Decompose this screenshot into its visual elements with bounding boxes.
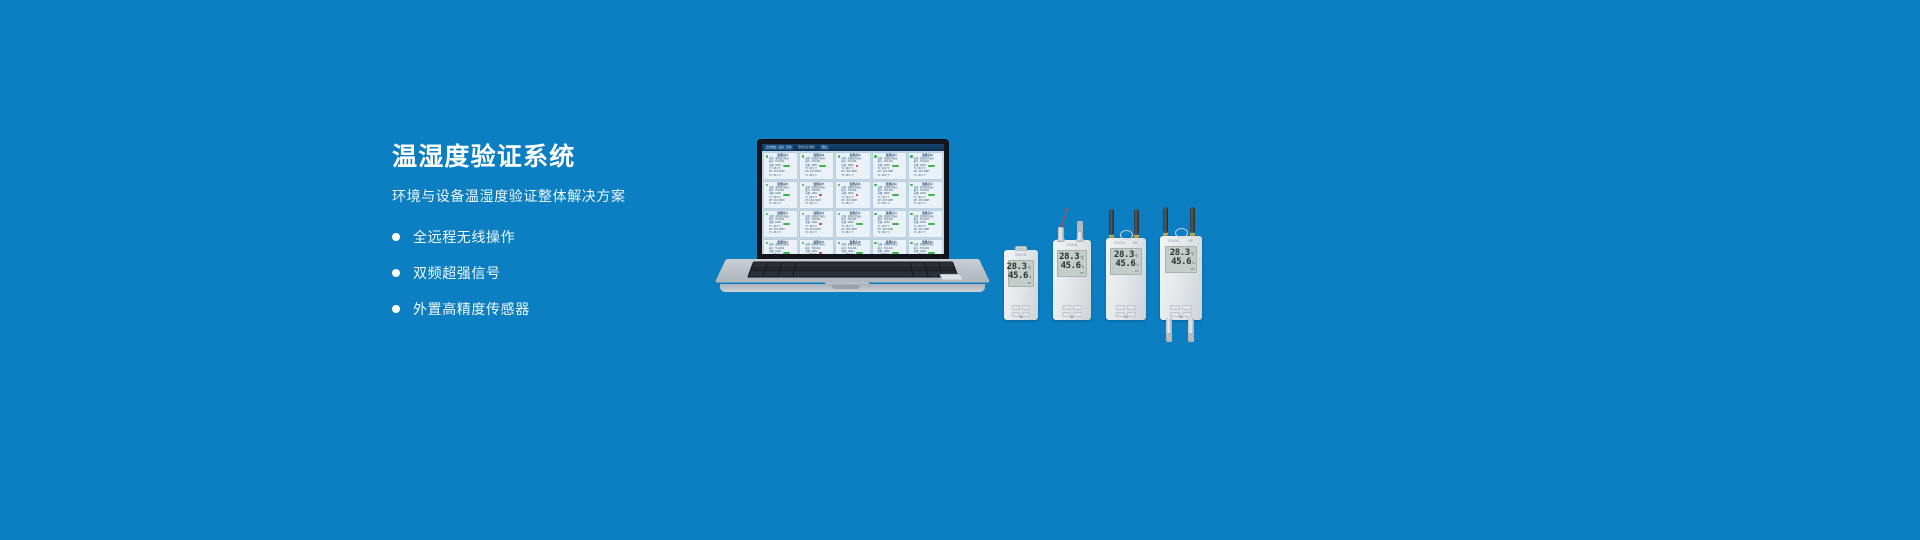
status-badge-ok [783,223,790,225]
sensor-field-key: T2: [805,203,808,206]
sensor-card[interactable]: 监测点02设备:温湿度记录仪编号:TLD-001电量:100%T1:28.3 ℃… [799,152,834,180]
sensor-card-row: T2:28.1 ℃ [805,232,832,235]
sensor-card-row: T2:28.1 ℃ [841,232,868,235]
lcd-temperature-unit: ℃ [1080,257,1084,261]
lcd-humidity-line: 45.6 % [1113,260,1138,269]
sensor-card[interactable]: 监测点03设备:温湿度记录仪编号:TLD-001电量:100%T1:28.3 ℃… [835,152,870,180]
lcd-humidity-value: 45.6 [1115,260,1135,269]
sensor-card[interactable]: 监测点08设备:温湿度记录仪编号:TLD-001电量:100%T1:28.3 ℃… [835,181,870,209]
sensor-card-row: T2:28.1 ℃ [841,203,868,206]
status-dot-icon [838,184,841,187]
keyboard-key[interactable] [839,271,853,273]
external-probe-left [1166,318,1172,334]
device-brand-left: ENON [1016,253,1027,257]
sensor-field-key: T2: [914,203,917,206]
keyboard-key[interactable] [794,271,808,273]
sensor-field-key: T2: [805,232,808,235]
bullet-dot-icon [392,269,400,277]
keyboard-key[interactable] [764,271,779,273]
sensor-card[interactable]: 监测点15设备:温湿度记录仪编号:TLD-001电量:100%T1:28.3 ℃… [908,210,943,238]
sensor-card-row: T2:28.1 ℃ [769,203,796,206]
sensor-card-row: T2:28.1 ℃ [914,203,941,206]
antenna-connector-icon [1109,235,1114,239]
lcd-temperature-unit: ℃ [1191,253,1195,257]
sensor-field-key: T2: [878,175,881,178]
status-dot-icon [874,213,877,216]
keyboard-key[interactable] [749,274,764,276]
status-dot-icon [766,242,769,245]
keyboard-key[interactable] [838,274,852,276]
data-logger-probe: ENON 28.3 ℃ 45.6 % RH [1053,240,1091,320]
device-keypad[interactable] [1062,305,1082,318]
lcd-footer-label: RH [1168,268,1195,271]
status-badge-ok [928,252,935,254]
keyboard-key[interactable] [824,271,838,273]
external-probe-right [1188,318,1194,334]
sensor-field-key: T2: [841,203,844,206]
device-brand: ENON [1053,243,1091,247]
sensor-card-grid: 监测点01设备:温湿度记录仪编号:TLD-001电量:100%T1:28.3 ℃… [762,151,944,254]
device-key[interactable] [1062,305,1071,311]
lcd-footer-label: RH [1060,272,1084,275]
feature-label: 全远程无线操作 [413,227,515,247]
device-keypad[interactable] [1170,305,1192,318]
status-badge-ok [783,194,790,196]
sensor-field-key: T2: [769,232,772,235]
sensor-card[interactable]: 监测点12设备:温湿度记录仪编号:TLD-001电量:100%T1:28.3 ℃… [799,210,834,238]
status-badge-ok [928,223,935,225]
lcd-humidity-unit: % [1029,276,1031,280]
status-badge-alarm [819,223,822,225]
lcd-footer-label: RH [1113,270,1138,273]
keyboard-key[interactable] [883,274,898,276]
sensor-card[interactable]: 监测点01设备:温湿度记录仪编号:TLD-001电量:100%T1:28.3 ℃… [763,152,798,180]
laptop-keyboard[interactable] [747,262,959,278]
laptop-product-image: 实时数据 · 设备 · 查询 历史记录 报表 帮助 监测点01设备:温湿度记录仪… [720,140,985,300]
keyboard-key[interactable] [898,274,913,276]
sensor-field-key: T2: [914,232,917,235]
data-logger-dual-antenna-2: ENON HE 28.3 ℃ 45.6 % RH [1160,236,1202,320]
feature-item-sensor: 外置高精度传感器 [392,299,722,319]
humidity-probe-body [1077,232,1083,240]
sensor-card-row: T2:28.1 ℃ [914,232,941,235]
hero-banner: 温湿度验证系统 环境与设备温湿度验证整体解决方案 全远程无线操作 双频超强信号 … [0,0,1920,540]
lcd-humidity-value: 45.6 [1171,258,1191,267]
sensor-card[interactable]: 监测点13设备:温湿度记录仪编号:TLD-001电量:100%T1:28.3 ℃… [835,210,870,238]
antenna-left [1109,209,1114,235]
keyboard-key[interactable] [779,271,794,273]
laptop-base-notch [832,285,860,289]
app-titlebar: 实时数据 · 设备 · 查询 历史记录 报表 帮助 [762,144,944,151]
keyboard-key[interactable] [750,271,765,273]
device-led-indicator [1071,316,1074,318]
device-led-indicator [1125,316,1128,318]
sensor-field-value: 28.1 ℃ [918,175,926,178]
device-brand: ENON HE [1106,241,1146,245]
sensor-field-key: T2: [805,175,808,178]
lcd-humidity-line: 45.6 % [1060,262,1084,271]
keyboard-key[interactable] [823,274,837,276]
sensor-field-value: 28.1 ℃ [846,175,854,178]
sensor-card[interactable]: 监测点09设备:温湿度记录仪编号:TLD-001电量:100%T1:28.3 ℃… [872,181,907,209]
sensor-card[interactable]: 监测点10设备:温湿度记录仪编号:TLD-001电量:100%T1:28.3 ℃… [908,181,943,209]
feature-item-dualband: 双频超强信号 [392,263,722,283]
status-badge-ok [892,165,899,167]
status-badge-alarm [819,252,822,254]
laptop-lid: 实时数据 · 设备 · 查询 历史记录 报表 帮助 监测点01设备:温湿度记录仪… [758,140,948,263]
status-dot-icon [838,155,841,158]
device-key[interactable] [1116,305,1126,311]
status-dot-icon [802,155,805,158]
sensor-field-value: 28.1 ℃ [810,175,818,178]
status-dot-icon [910,184,913,187]
humidity-probe-mesh [1077,221,1083,232]
keyboard-key[interactable] [912,271,927,273]
sensor-card-row: T2:28.1 ℃ [878,203,905,206]
status-dot-icon [910,155,913,158]
page-subtitle: 环境与设备温湿度验证整体解决方案 [392,187,722,205]
sensor-card-row: T2:28.1 ℃ [878,232,905,235]
device-lcd-display: 28.3 ℃ 45.6 % RH [1110,248,1141,275]
page-title: 温湿度验证系统 [392,142,722,173]
device-key[interactable] [1073,305,1082,311]
status-dot-icon [874,155,877,158]
keyboard-key[interactable] [868,274,882,276]
sensor-card[interactable]: 监测点06设备:温湿度记录仪编号:TLD-001电量:100%T1:28.3 ℃… [763,181,798,209]
bullet-dot-icon [392,305,400,313]
device-brand-left: ENON [1168,239,1179,243]
feature-item-remote: 全远程无线操作 [392,227,722,247]
keyboard-key[interactable] [897,271,911,273]
laptop-deck [715,259,990,282]
keyboard-key[interactable] [913,274,928,276]
keyboard-key[interactable] [853,271,867,273]
sensor-field-key: T2: [841,175,844,178]
antenna-connector-icon [1190,233,1195,237]
lcd-temperature-unit: ℃ [1028,267,1032,271]
lcd-humidity-line: 45.6 % [1011,272,1032,281]
device-ring-handle [1120,230,1133,240]
status-badge-ok [892,194,899,196]
sensor-card[interactable]: 监测点04设备:温湿度记录仪编号:TLD-001电量:100%T1:28.3 ℃… [872,152,907,180]
sensor-field-value: 28.1 ℃ [918,203,926,206]
status-badge-ok [783,252,790,254]
data-logger-group: ENON 28.3 ℃ 45.6 % RH [1000,186,1220,320]
status-badge-ok [928,165,935,167]
sensor-field-value: 28.1 ℃ [810,203,818,206]
sensor-field-value: 28.1 ℃ [882,203,890,206]
status-dot-icon [910,242,913,245]
sensor-field-key: T2: [878,203,881,206]
sensor-card[interactable]: 监测点17设备:温湿度记录仪编号:TLD-001电量:100%T1:28.3 ℃… [799,239,834,254]
sensor-field-key: T2: [841,232,844,235]
sensor-field-value: 28.1 ℃ [918,232,926,235]
device-key[interactable] [1022,312,1030,318]
sensor-field-value: 28.1 ℃ [773,175,781,178]
device-lcd-display: 28.3 ℃ 45.6 % RH [1165,246,1198,273]
hanger-grill-icon [1018,248,1024,249]
status-dot-icon [910,213,913,216]
lcd-footer-label: RH [1011,282,1032,285]
sensor-field-value: 28.1 ℃ [773,203,781,206]
device-lcd-display: 28.3 ℃ 45.6 % RH [1008,260,1035,287]
sensor-field-key: T2: [878,232,881,235]
sensor-card[interactable]: 监测点18设备:温湿度记录仪编号:TLD-001电量:100%T1:28.3 ℃… [835,239,870,254]
status-dot-icon [766,184,769,187]
device-key[interactable] [1012,305,1020,311]
lcd-humidity-value: 45.6 [1008,272,1028,281]
laptop-screen: 实时数据 · 设备 · 查询 历史记录 报表 帮助 监测点01设备:温湿度记录仪… [762,144,944,254]
external-probe-left-mesh [1166,333,1172,342]
antenna-left [1163,207,1168,233]
sensor-card[interactable]: 监测点07设备:温湿度记录仪编号:TLD-001电量:100%T1:28.3 ℃… [799,181,834,209]
keyboard-row [750,271,957,273]
status-dot-icon [766,213,769,216]
device-lcd-display: 28.3 ℃ 45.6 % RH [1057,250,1087,277]
status-badge-alarm [856,194,859,196]
sensor-field-key: T2: [914,175,917,178]
sensor-card[interactable]: 监测点05设备:温湿度记录仪编号:TLD-001电量:100%T1:28.3 ℃… [908,152,943,180]
laptop-sticker [940,274,964,281]
sensor-card-row: T2:28.1 ℃ [914,175,941,178]
antenna-connector-icon [1163,233,1168,237]
device-key[interactable] [1127,305,1137,311]
laptop-base [720,259,985,295]
sensor-card-row: T2:28.1 ℃ [769,175,796,178]
device-keypad[interactable] [1116,305,1137,318]
sensor-field-value: 28.1 ℃ [810,232,818,235]
keyboard-row [749,274,958,276]
hanger-tab-icon [1015,246,1027,251]
sensor-field-key: T2: [769,203,772,206]
lcd-humidity-value: 45.6 [1061,262,1081,271]
device-brand-left: ENON [1114,241,1125,245]
lcd-temperature-unit: ℃ [1135,255,1139,259]
sensor-card-row: T2:28.1 ℃ [805,203,832,206]
status-dot-icon [766,155,769,158]
external-probe-right-mesh [1188,333,1194,342]
antenna-right [1190,207,1195,233]
antenna-right [1134,209,1139,235]
status-dot-icon [874,184,877,187]
app-tab-help[interactable]: 帮助 [820,145,829,150]
probe-red-wire [1061,207,1068,229]
device-brand: ENON [1004,253,1038,257]
status-badge-ok [819,165,826,167]
device-key[interactable] [1022,305,1030,311]
status-badge-ok [892,252,899,254]
status-dot-icon [802,242,805,245]
status-badge-alarm [819,194,822,196]
status-badge-ok [892,223,899,225]
device-brand-right: HE [1133,241,1138,245]
device-key[interactable] [1073,312,1082,318]
lcd-humidity-line: 45.6 % [1168,258,1195,267]
sensor-card[interactable]: 监测点11设备:温湿度记录仪编号:TLD-001电量:100%T1:28.3 ℃… [763,210,798,238]
device-brand: ENON HE [1160,239,1202,243]
sensor-card-row: T2:28.1 ℃ [841,175,868,178]
keyboard-key[interactable] [808,274,823,276]
sensor-card[interactable]: 监测点20设备:温湿度记录仪编号:TLD-001电量:100%T1:28.3 ℃… [908,239,943,254]
app-tab-history[interactable]: 历史记录 报表 [796,145,816,150]
sensor-card-row: T2:28.1 ℃ [805,175,832,178]
data-logger-basic: ENON 28.3 ℃ 45.6 % RH [1004,250,1038,320]
device-key[interactable] [1170,305,1180,311]
sensor-field-value: 28.1 ℃ [846,203,854,206]
feature-label: 双频超强信号 [413,263,501,283]
app-tab-realtime[interactable]: 实时数据 · 设备 · 查询 [764,145,793,150]
status-badge-ok [928,194,935,196]
lcd-humidity-unit: % [1192,262,1194,266]
sensor-field-value: 28.1 ℃ [882,232,890,235]
keyboard-key[interactable] [883,271,897,273]
sensor-field-key: T2: [769,175,772,178]
lcd-humidity-unit: % [1136,264,1138,268]
device-key[interactable] [1127,312,1137,318]
status-dot-icon [838,213,841,216]
sensor-field-value: 28.1 ℃ [846,232,854,235]
bullet-dot-icon [392,233,400,241]
data-logger-dual-antenna-1: ENON HE 28.3 ℃ 45.6 % RH [1106,238,1146,320]
status-badge-ok [856,223,863,225]
temperature-probe [1058,227,1064,240]
keyboard-key[interactable] [853,274,867,276]
device-keypad[interactable] [1012,305,1030,318]
device-ring-handle [1175,228,1188,238]
sensor-card-row: T2:28.1 ℃ [878,175,905,178]
keyboard-key[interactable] [778,274,793,276]
device-brand-left: ENON [1067,243,1078,247]
keyboard-key[interactable] [793,274,808,276]
device-led-indicator [1180,316,1183,318]
sensor-card[interactable]: 监测点14设备:温湿度记录仪编号:TLD-001电量:100%T1:28.3 ℃… [872,210,907,238]
status-dot-icon [838,242,841,245]
sensor-card[interactable]: 监测点19设备:温湿度记录仪编号:TLD-001电量:100%T1:28.3 ℃… [872,239,907,254]
keyboard-key[interactable] [764,274,779,276]
lcd-humidity-unit: % [1082,266,1084,270]
keyboard-key[interactable] [868,271,882,273]
sensor-field-value: 28.1 ℃ [773,232,781,235]
sensor-card[interactable]: 监测点16设备:温湿度记录仪编号:TLD-001电量:100%T1:28.3 ℃… [763,239,798,254]
status-dot-icon [802,184,805,187]
device-key[interactable] [1182,305,1192,311]
status-dot-icon [874,242,877,245]
copy-block: 温湿度验证系统 环境与设备温湿度验证整体解决方案 全远程无线操作 双频超强信号 … [392,142,722,319]
keyboard-key[interactable] [809,271,823,273]
device-led-indicator [1020,316,1023,318]
sensor-card-row: T2:28.1 ℃ [769,232,796,235]
sensor-field-value: 28.1 ℃ [882,175,890,178]
device-key[interactable] [1182,312,1192,318]
status-badge-ok [856,252,863,254]
status-dot-icon [802,213,805,216]
feature-label: 外置高精度传感器 [413,299,530,319]
feature-list: 全远程无线操作 双频超强信号 外置高精度传感器 [392,227,722,319]
status-badge-ok [783,165,790,167]
device-brand-right: HE [1188,239,1193,243]
antenna-connector-icon [1134,235,1139,239]
